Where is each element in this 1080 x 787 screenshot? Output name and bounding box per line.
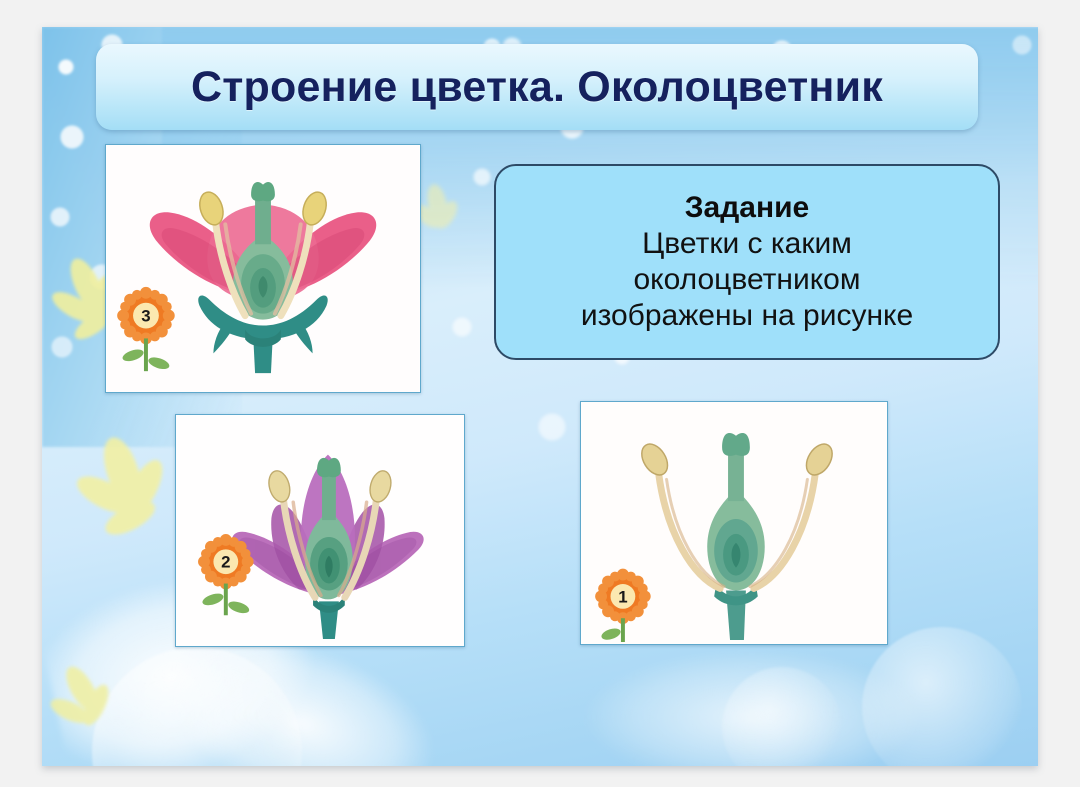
task-line-1: Цветки с каким (642, 226, 852, 262)
figure-badge-number-2: 2 (221, 553, 230, 572)
slide-title-box: Строение цветка. Околоцветник (96, 44, 978, 130)
task-line-3: изображены на рисунке (581, 298, 913, 334)
task-box: Задание Цветки с каким околоцветником из… (494, 164, 1000, 360)
figure-badge-number-3: 3 (141, 307, 150, 326)
figure-image-2[interactable]: 2 (175, 414, 465, 647)
figure-badge-number-1: 1 (618, 587, 627, 606)
flower-diagram-1: 1 (581, 402, 887, 644)
figure-image-3[interactable]: ❮ (105, 144, 421, 393)
figure-image-1[interactable]: 1 (580, 401, 888, 645)
page-title: Строение цветка. Околоцветник (191, 63, 883, 112)
background-yellow-flower-icon (42, 657, 136, 757)
slide: Строение цветка. Околоцветник Задание Цв… (42, 27, 1038, 766)
task-line-2: околоцветником (633, 262, 860, 298)
flower-diagram-3: 3 (106, 145, 420, 392)
task-heading: Задание (685, 190, 809, 225)
flower-diagram-2: 2 (176, 415, 464, 646)
background-yellow-flower-icon (60, 427, 190, 557)
